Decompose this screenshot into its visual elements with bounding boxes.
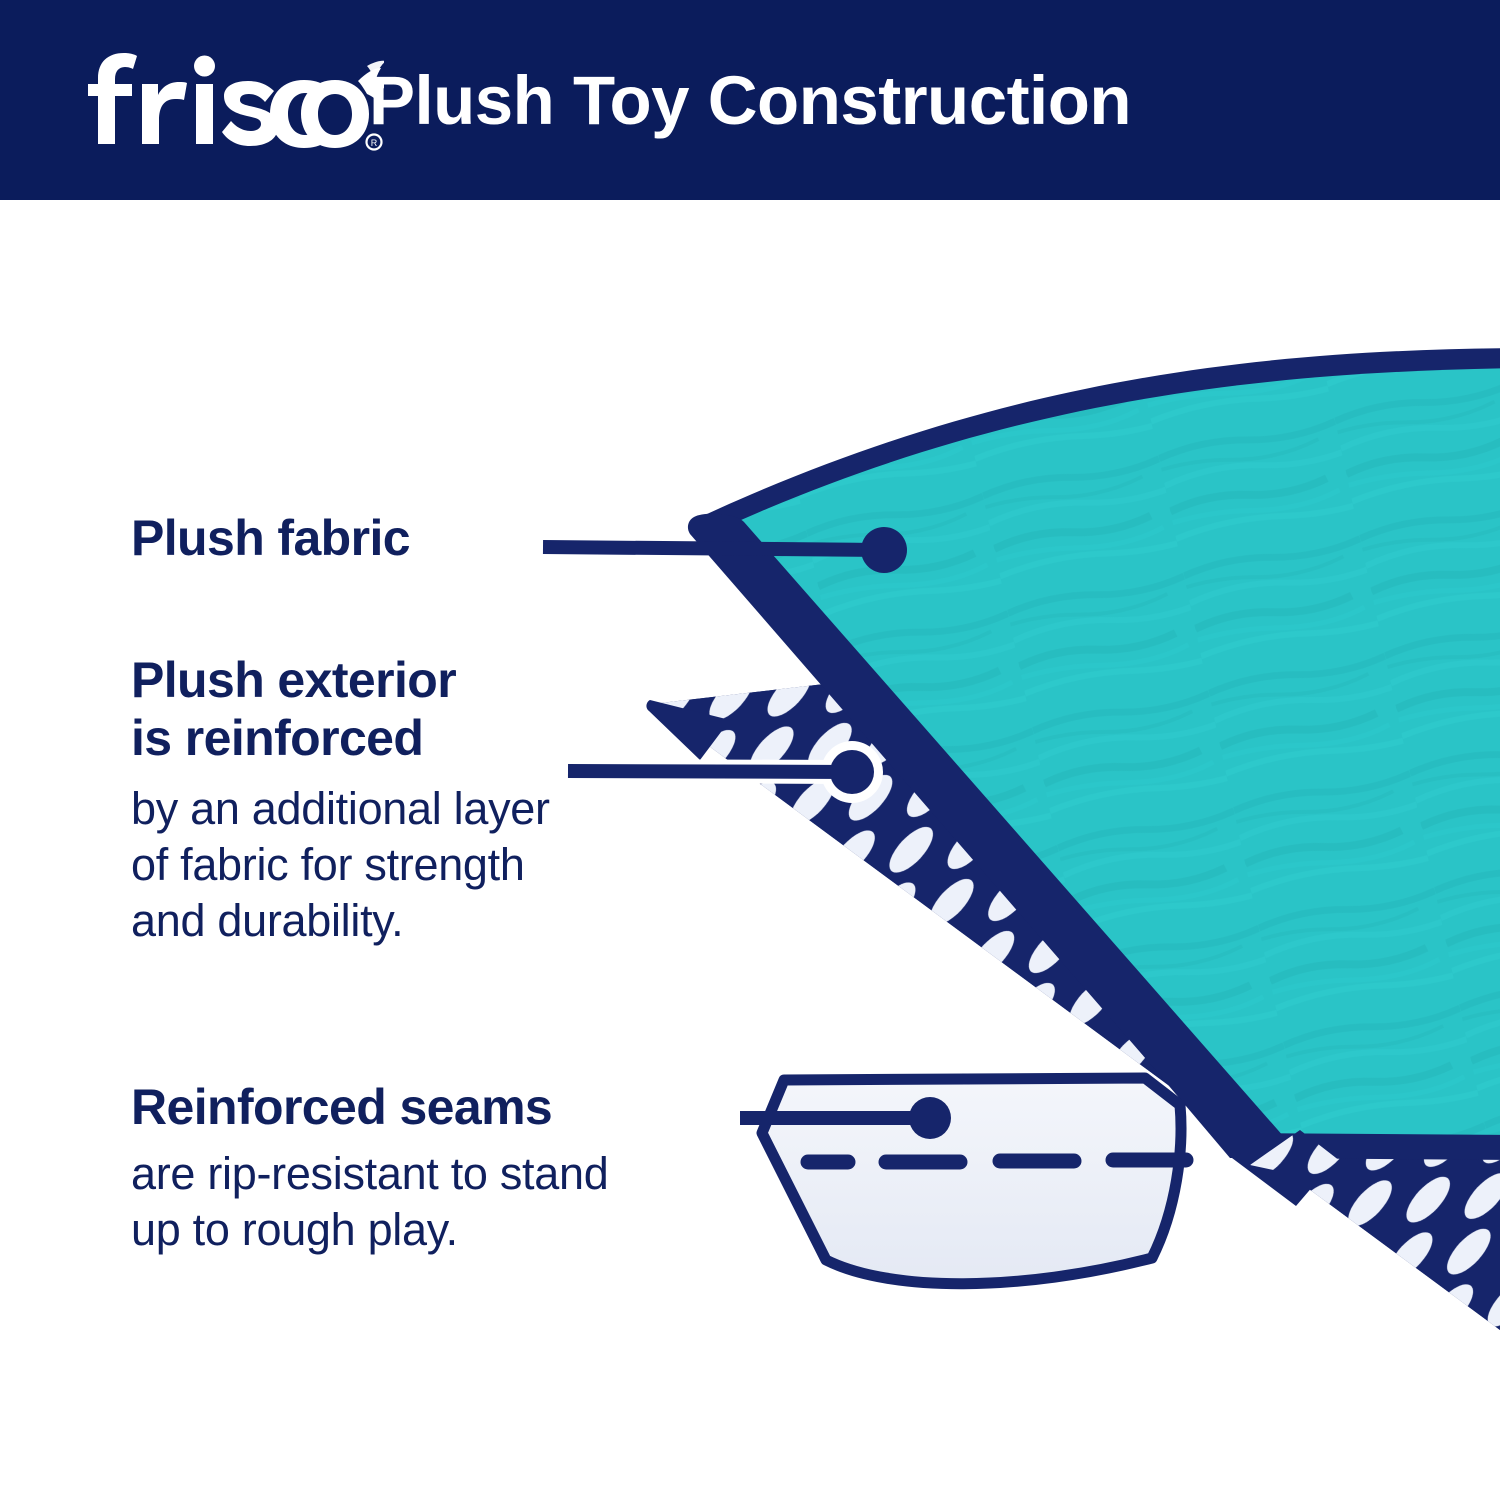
frisco-logo: R [84, 48, 384, 158]
callout-plush-exterior-body-line-3: and durability. [131, 893, 550, 949]
callout-reinforced-seams: Reinforced seams are rip-resistant to st… [131, 1078, 608, 1258]
callout-plush-exterior-heading-line-2: is reinforced [131, 709, 550, 767]
callout-plush-exterior: Plush exterior is reinforced by an addit… [131, 651, 550, 949]
callout-reinforced-seams-body-line-1: are rip-resistant to stand [131, 1146, 608, 1202]
callout-plush-exterior-body-line-1: by an additional layer [131, 781, 550, 837]
seam-flap-shape [762, 1078, 1181, 1284]
infographic-root: R Plush Toy Construction [0, 0, 1500, 1500]
callout-plush-exterior-body-line-2: of fabric for strength [131, 837, 550, 893]
frisco-wordmark-svg: R [84, 48, 384, 158]
callout-reinforced-seams-body-line-2: up to rough play. [131, 1202, 608, 1258]
callout-plush-exterior-heading-line-1: Plush exterior [131, 651, 550, 709]
callout-plush-fabric: Plush fabric [131, 509, 410, 567]
header-bar: R Plush Toy Construction [0, 0, 1500, 200]
callout-plush-fabric-heading-line-1: Plush fabric [131, 509, 410, 567]
reinforced-seam-flap [760, 1078, 1186, 1284]
svg-text:R: R [371, 138, 378, 148]
callout-reinforced-seams-heading-line-1: Reinforced seams [131, 1078, 608, 1136]
